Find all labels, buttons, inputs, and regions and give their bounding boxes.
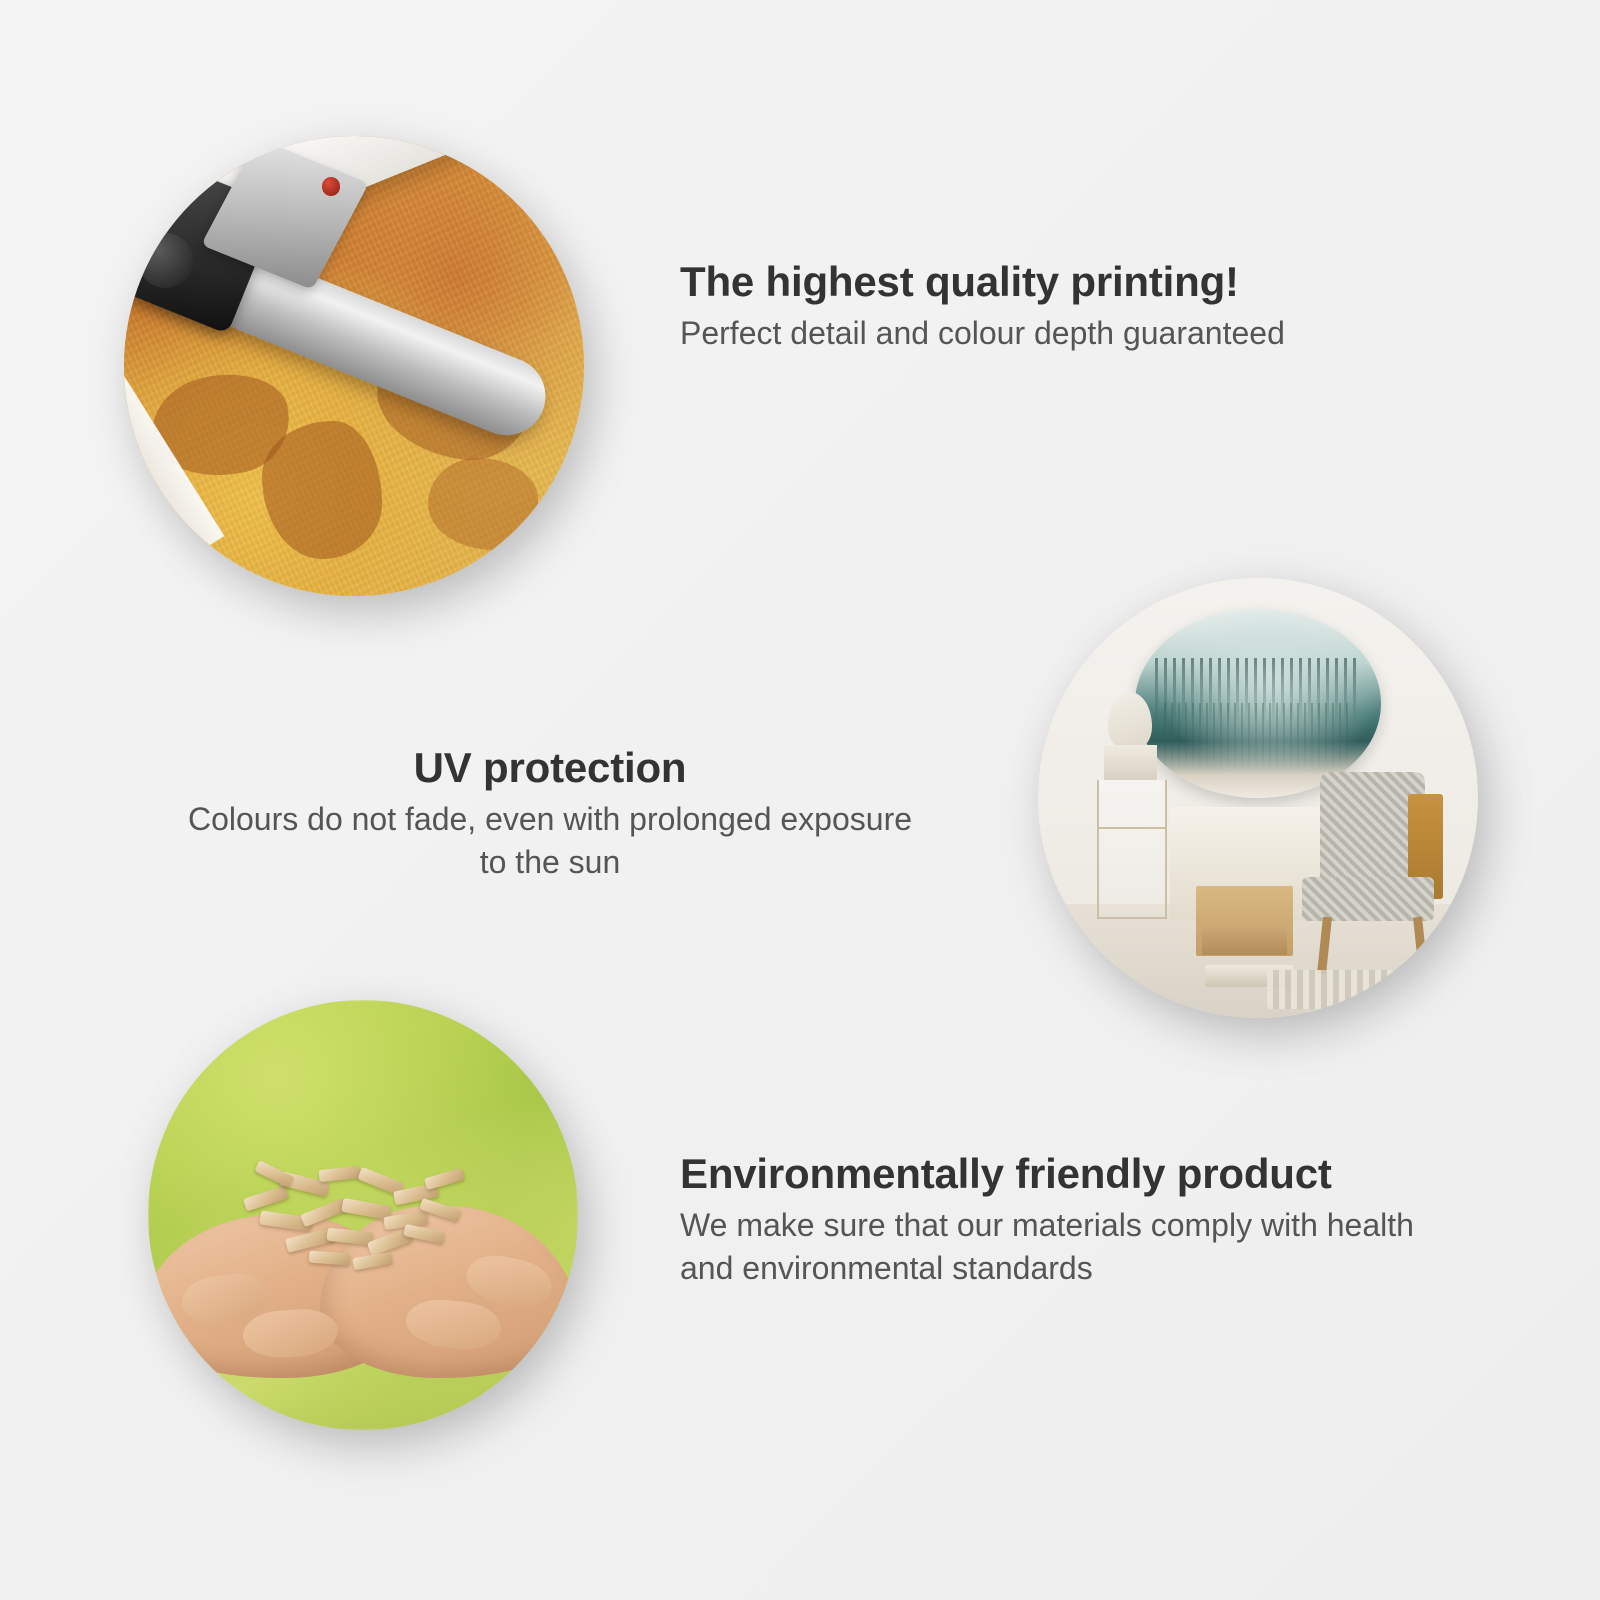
wood-chip (243, 1185, 289, 1211)
feature-subtitle: Perfect detail and colour depth guarante… (680, 312, 1420, 355)
uv-protection-text: UV protection Colours do not fade, even … (180, 744, 920, 885)
wood-chip (319, 1166, 361, 1182)
sculpture-plinth (1104, 745, 1157, 780)
eco-friendly-image (148, 1000, 578, 1430)
feature-highlights-page: The highest quality printing! Perfect de… (0, 0, 1600, 1600)
uv-protection-image (1038, 578, 1478, 1018)
feature-subtitle: We make sure that our materials comply w… (680, 1204, 1460, 1290)
wood-chip (300, 1198, 348, 1228)
feature-title: The highest quality printing! (680, 258, 1420, 306)
roller-knob (138, 233, 193, 288)
wood-chip (308, 1251, 350, 1266)
floor-rug (1267, 970, 1469, 1010)
feature-title: UV protection (180, 744, 920, 792)
feature-subtitle: Colours do not fade, even with prolonged… (180, 798, 920, 884)
wire-side-stand (1097, 780, 1167, 918)
wood-chip (254, 1160, 294, 1188)
side-table (1196, 886, 1293, 956)
printing-quality-text: The highest quality printing! Perfect de… (680, 258, 1420, 355)
wood-chips-pile (234, 1146, 492, 1266)
printing-quality-image (124, 136, 584, 596)
wood-chip (424, 1168, 465, 1190)
eco-friendly-text: Environmentally friendly product We make… (680, 1150, 1460, 1291)
indicator-dot (322, 177, 340, 195)
round-wall-art (1135, 609, 1381, 798)
armchair-seat (1302, 877, 1434, 921)
feature-title: Environmentally friendly product (680, 1150, 1460, 1198)
art-drip-texture (1164, 703, 1351, 771)
